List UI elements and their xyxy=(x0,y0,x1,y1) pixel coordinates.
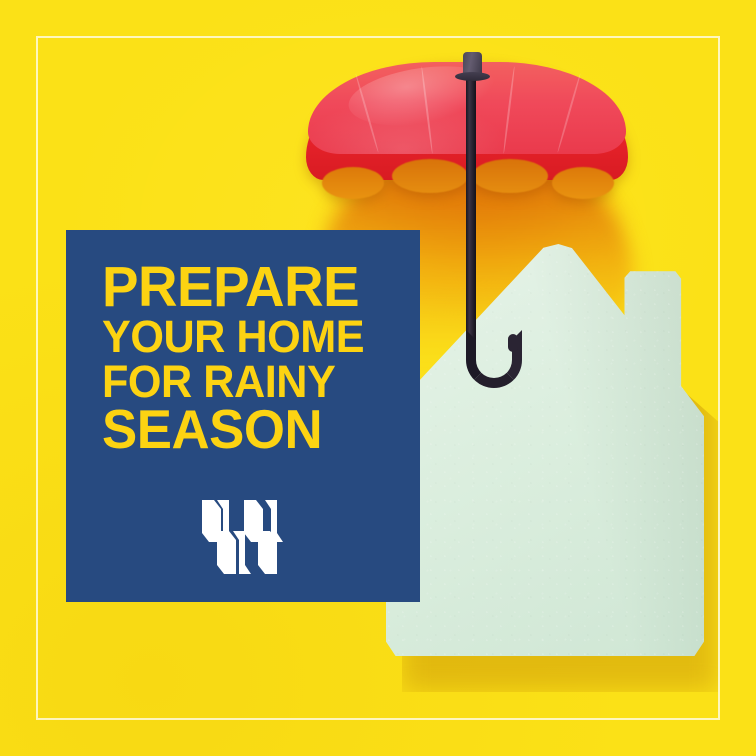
chevron-m-logo xyxy=(200,498,286,576)
umbrella-scallop xyxy=(552,167,614,199)
umbrella-rib-seam xyxy=(557,73,582,152)
headline-line-2: YOUR HOME xyxy=(102,317,390,357)
house-body xyxy=(386,244,704,656)
headline-line-4: SEASON xyxy=(102,405,390,453)
umbrella-scallop xyxy=(322,167,384,199)
house-cutout xyxy=(386,244,704,656)
umbrella-pole xyxy=(466,72,476,362)
headline-block: PREPARE YOUR HOME FOR RAINY SEASON xyxy=(102,262,402,454)
umbrella-scallop xyxy=(392,159,468,193)
poster-canvas: PREPARE YOUR HOME FOR RAINY SEASON xyxy=(0,0,756,756)
umbrella-scallop xyxy=(472,159,548,193)
headline-line-1: PREPARE xyxy=(102,262,390,312)
headline-line-3: FOR RAINY xyxy=(102,362,390,402)
umbrella-finial-brim xyxy=(455,72,490,81)
headline-panel: PREPARE YOUR HOME FOR RAINY SEASON xyxy=(66,230,420,602)
umbrella-hook-tip xyxy=(508,334,518,352)
umbrella-rib-seam xyxy=(503,66,516,154)
